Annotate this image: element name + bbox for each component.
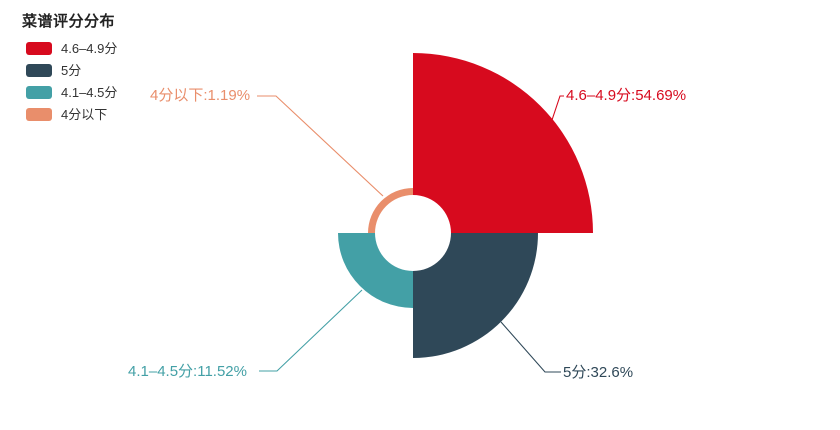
legend-item-label: 4分以下 xyxy=(61,108,107,121)
pie-chart-svg xyxy=(0,0,840,430)
data-label-red: 4.6–4.9分:54.69% xyxy=(566,88,686,103)
legend-title: 菜谱评分分布 xyxy=(22,10,117,31)
legend-item-0[interactable]: 4.6–4.9分 xyxy=(12,38,117,59)
legend-item-label: 5分 xyxy=(61,64,81,77)
pie-slice-orange[interactable] xyxy=(368,188,413,233)
legend-swatch-icon xyxy=(26,42,52,55)
leader-line-navy xyxy=(501,322,561,372)
legend-item-3[interactable]: 4分以下 xyxy=(12,104,117,125)
legend-swatch-icon xyxy=(26,86,52,99)
legend-item-label: 4.6–4.9分 xyxy=(61,42,117,55)
legend-swatch-icon xyxy=(26,108,52,121)
chart-container: 菜谱评分分布 4.6–4.9分 5分 4.1–4.5分 4分以下 4.6–4.9… xyxy=(0,0,840,430)
pie-slice-navy[interactable] xyxy=(413,233,538,358)
leader-line-teal xyxy=(259,290,362,371)
pie-slice-teal[interactable] xyxy=(338,233,413,308)
legend-item-1[interactable]: 5分 xyxy=(12,60,117,81)
legend: 菜谱评分分布 4.6–4.9分 5分 4.1–4.5分 4分以下 xyxy=(12,10,117,126)
legend-swatch-icon xyxy=(26,64,52,77)
pie-slice-red[interactable] xyxy=(413,53,593,233)
leader-line-orange xyxy=(257,96,383,196)
legend-item-2[interactable]: 4.1–4.5分 xyxy=(12,82,117,103)
legend-item-label: 4.1–4.5分 xyxy=(61,86,117,99)
data-label-navy: 5分:32.6% xyxy=(563,365,633,380)
data-label-teal: 4.1–4.5分:11.52% xyxy=(128,364,247,379)
data-label-orange: 4分以下:1.19% xyxy=(150,88,250,103)
